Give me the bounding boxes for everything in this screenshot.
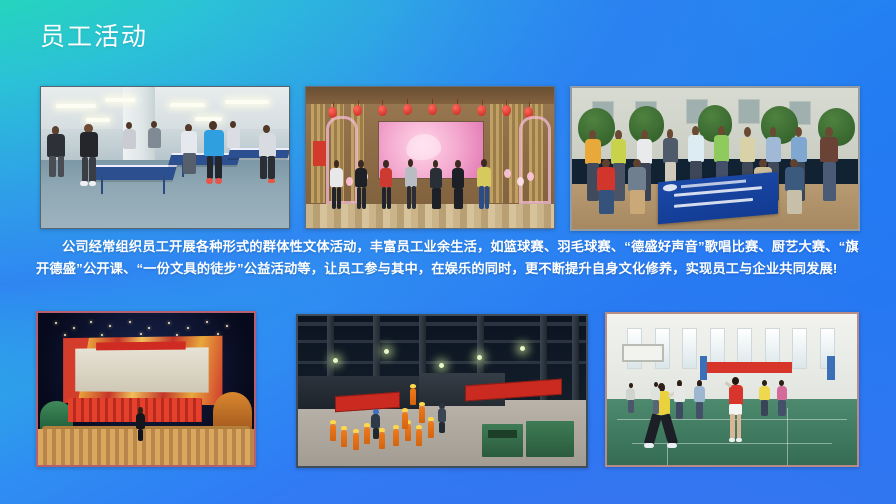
slide-root: 员工活动 [0, 0, 896, 504]
photo-3-scene [572, 88, 858, 229]
workshop-skills-competition-photo[interactable] [296, 314, 588, 468]
badminton-match-photo[interactable] [605, 312, 859, 467]
gala-choir-stage-photo[interactable] [36, 311, 256, 467]
group-photo-banner[interactable] [570, 86, 860, 231]
body-paragraph: 公司经常组织员工开展各种形式的群体性文体活动，丰富员工业余生活，如篮球赛、羽毛球… [36, 236, 860, 279]
photo-5-scene [298, 316, 586, 466]
photo-1-scene [41, 87, 289, 228]
page-title: 员工活动 [40, 20, 148, 54]
stage-performance-photo[interactable] [305, 86, 555, 229]
photo-4-scene [38, 313, 254, 465]
photo-2-scene [306, 87, 554, 228]
table-tennis-tournament-photo[interactable] [40, 86, 290, 229]
photo-6-scene [607, 314, 857, 465]
